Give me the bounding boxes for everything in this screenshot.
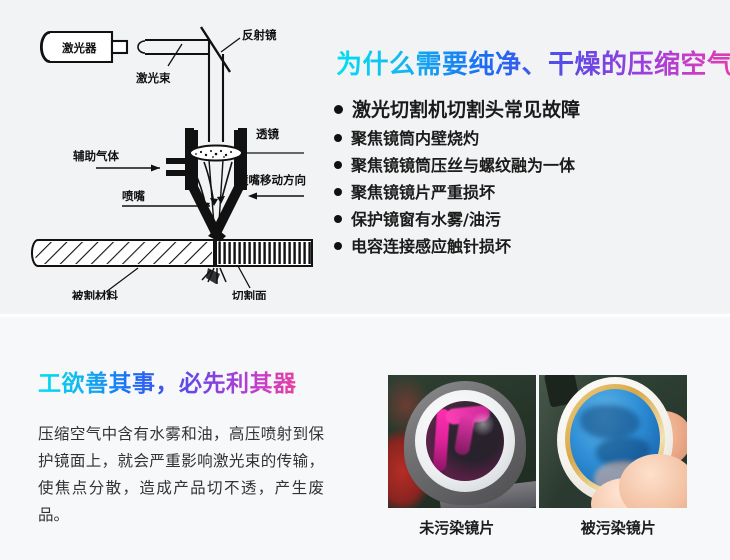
list-item: 激光切割机切割头常见故障 xyxy=(334,97,714,123)
arrow-nozzle-direction xyxy=(248,193,257,200)
fault-list: 激光切割机切割头常见故障 聚焦镜筒内壁烧灼 聚焦镜镜筒压丝与螺纹融为一体 聚焦镜… xyxy=(334,97,714,263)
lens-surface-shape xyxy=(426,401,504,481)
laser-diagram-svg: 激光器 激光束 反射镜 xyxy=(18,10,330,300)
bottom-paragraph: 压缩空气中含有水雾和油，高压喷射到保护镜面上，就会严重影响激光束的传输，使焦点分… xyxy=(38,421,324,529)
lens-shape xyxy=(190,146,242,161)
clean-lens-photo xyxy=(388,375,536,508)
clean-lens-caption: 未污染镜片 xyxy=(388,517,540,538)
cut-face-shape xyxy=(216,240,312,266)
bottom-headline: 工欲善其事，必先利其器 xyxy=(38,369,297,399)
list-item: 聚焦镜镜片严重损坏 xyxy=(334,182,714,204)
lens-photo-pair xyxy=(388,375,687,508)
label-lens: 透镜 xyxy=(256,127,279,141)
laser-cutting-diagram: 激光器 激光束 反射镜 xyxy=(18,10,330,300)
workpiece-shape xyxy=(32,240,214,266)
vertical-beam xyxy=(209,40,223,142)
arrow-assist-gas xyxy=(151,165,160,172)
photo-caption-row: 未污染镜片 被污染镜片 xyxy=(388,517,687,538)
contamination-smudge xyxy=(580,405,640,439)
fault-item-label: 电容连接感应触针损坏 xyxy=(351,236,511,258)
top-section: 激光器 激光束 反射镜 xyxy=(0,0,730,316)
reflect-mirror-shape xyxy=(201,27,230,72)
label-cut-face: 切割面 xyxy=(232,289,267,300)
assist-gas-inlet xyxy=(166,158,188,176)
fault-item-label: 聚焦镜筒内壁烧灼 xyxy=(351,128,479,150)
label-workpiece: 被割材料 xyxy=(72,289,118,300)
label-nozzle-direction: 喷嘴移动方向 xyxy=(237,173,306,187)
bullet-icon xyxy=(334,242,342,250)
bullet-icon xyxy=(334,134,342,142)
bottom-section: 工欲善其事，必先利其器 压缩空气中含有水雾和油，高压喷射到保护镜面上，就会严重影… xyxy=(0,317,730,560)
contaminated-lens-photo xyxy=(539,375,687,508)
label-reflect-mirror: 反射镜 xyxy=(242,28,277,42)
bullet-icon xyxy=(334,161,342,169)
fault-item-label: 激光切割机切割头常见故障 xyxy=(352,97,580,123)
label-nozzle: 喷嘴 xyxy=(122,189,145,203)
fault-item-label: 聚焦镜镜筒压丝与螺纹融为一体 xyxy=(351,155,575,177)
leader-cut-face xyxy=(238,266,250,288)
label-laser-beam: 激光束 xyxy=(136,71,171,85)
list-item: 聚焦镜筒内壁烧灼 xyxy=(334,128,714,150)
lens-glint-shape xyxy=(472,411,494,437)
list-item: 保护镜窗有水雾/油污 xyxy=(334,209,714,231)
contaminated-lens-caption: 被污染镜片 xyxy=(540,517,688,538)
laser-beam-tube xyxy=(138,40,209,54)
bullet-icon xyxy=(334,215,342,223)
top-headline: 为什么需要纯净、干燥的压缩空气? xyxy=(336,48,730,82)
leader-reflect-mirror xyxy=(221,38,240,52)
list-item: 电容连接感应触针损坏 xyxy=(334,236,714,258)
bullet-icon xyxy=(334,188,342,196)
label-laser-source: 激光器 xyxy=(62,41,97,55)
list-item: 聚焦镜镜筒压丝与螺纹融为一体 xyxy=(334,155,714,177)
fault-item-label: 保护镜窗有水雾/油污 xyxy=(351,209,501,231)
label-assist-gas: 辅助气体 xyxy=(73,149,119,163)
bullet-icon xyxy=(334,105,343,114)
fault-item-label: 聚焦镜镜片严重损坏 xyxy=(351,182,495,204)
